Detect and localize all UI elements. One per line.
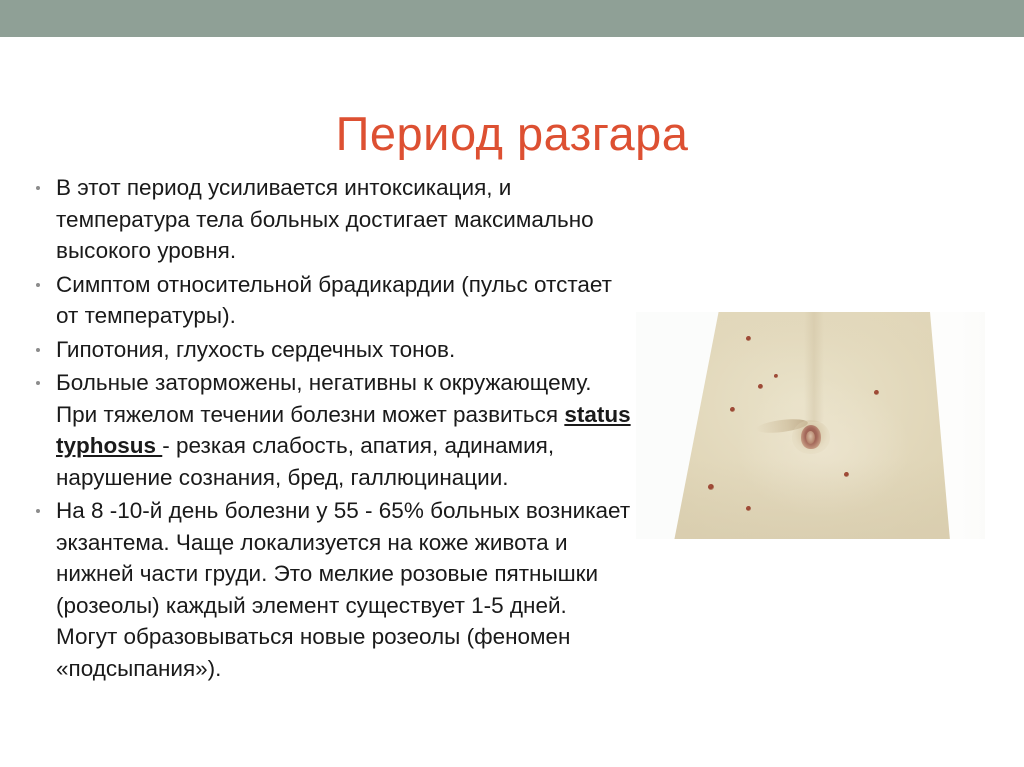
photo-navel xyxy=(792,420,830,454)
photo-roseola-spot xyxy=(746,336,751,341)
list-item: Гипотония, глухость сердечных тонов. xyxy=(22,334,632,366)
list-item: На 8 -10-й день болезни у 55 - 65% больн… xyxy=(22,495,632,684)
photo-roseola-spot xyxy=(758,384,763,389)
slide: Период разгара В этот период усиливается… xyxy=(0,0,1024,767)
photo-navel-core xyxy=(806,431,815,444)
list-item-text-before: Больные заторможены, негативны к окружаю… xyxy=(56,370,592,427)
photo-roseola-spot xyxy=(746,506,751,511)
bullet-list: В этот период усиливается интоксикация, … xyxy=(22,172,632,686)
list-item: Больные заторможены, негативны к окружаю… xyxy=(22,367,632,493)
photo-roseola-spot xyxy=(730,407,735,412)
photo-roseola-spot xyxy=(844,472,849,477)
clinical-photo xyxy=(636,312,985,539)
slide-top-band xyxy=(0,0,1024,37)
photo-right-contour xyxy=(959,312,985,539)
photo-roseola-spot xyxy=(708,484,714,490)
photo-roseola-spot xyxy=(874,390,879,395)
photo-roseola-spot xyxy=(774,374,778,378)
list-item: В этот период усиливается интоксикация, … xyxy=(22,172,632,267)
page-title: Период разгара xyxy=(0,109,1024,160)
list-item: Симптом относительной брадикардии (пульс… xyxy=(22,269,632,332)
photo-abdominal-midline xyxy=(804,312,824,422)
